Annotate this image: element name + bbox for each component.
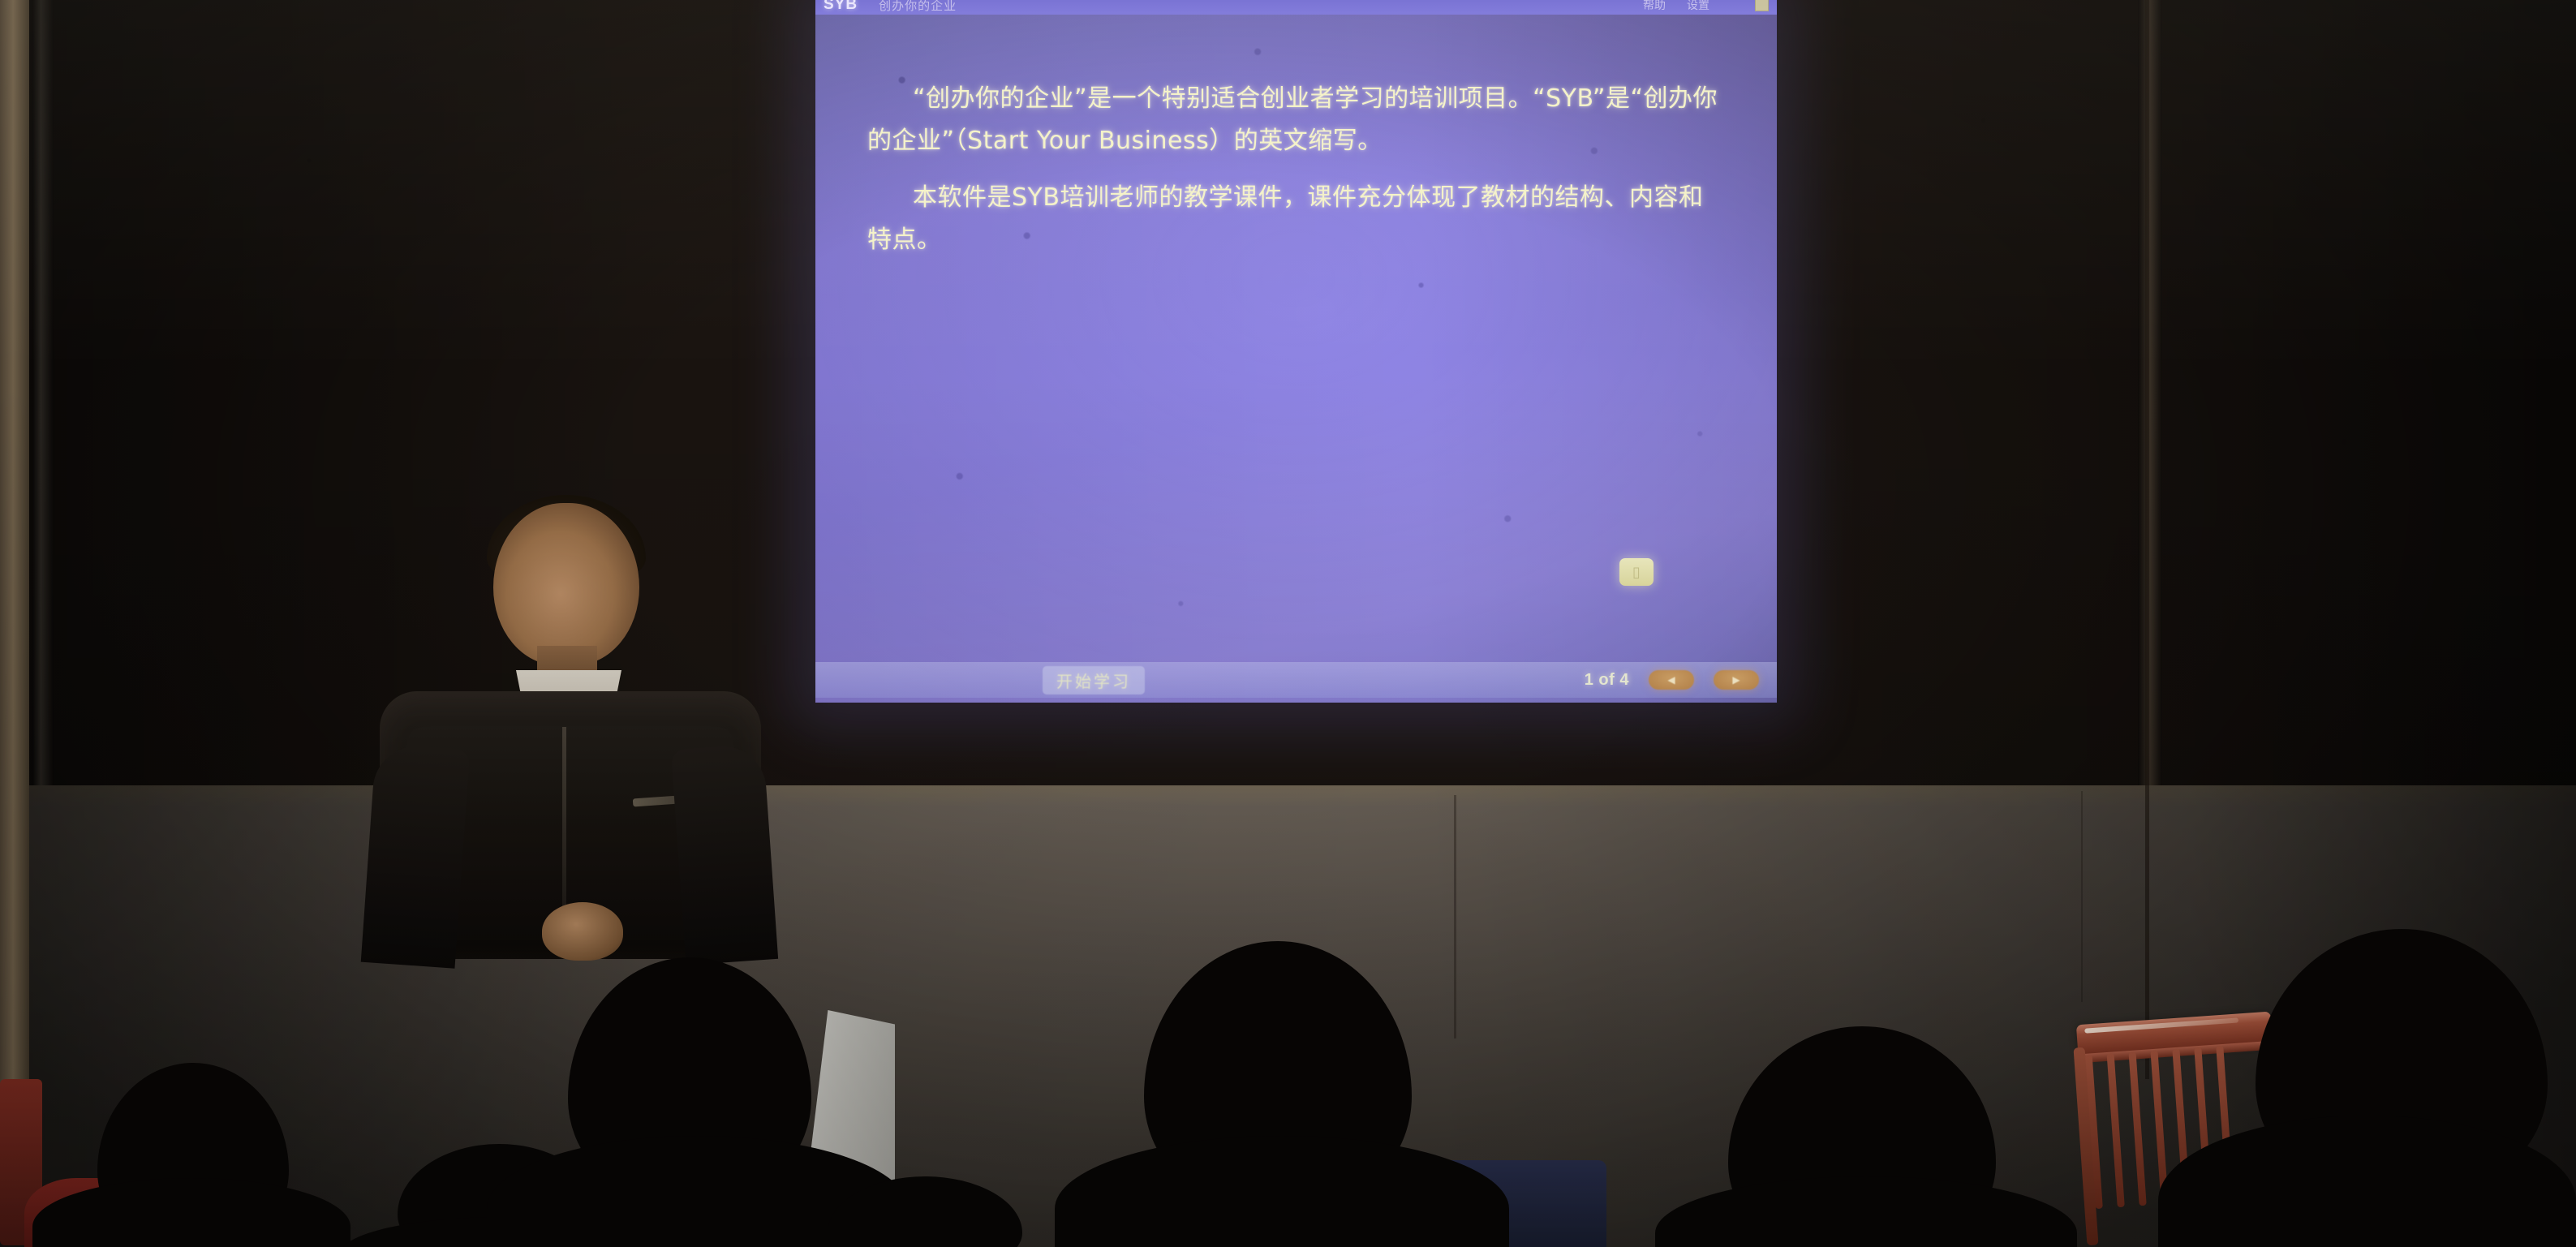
chair-slat bbox=[2107, 1053, 2125, 1207]
presenter-head bbox=[493, 503, 639, 665]
presenter-hands bbox=[542, 902, 623, 961]
classroom-photo-scene: SYB 创办你的企业 帮助 设置 “创办你的企业”是一个特别适合创业者学习的培训… bbox=[0, 0, 2576, 1247]
close-icon[interactable] bbox=[1755, 0, 1769, 11]
menu-item-settings[interactable]: 设置 bbox=[1687, 0, 1709, 13]
app-title-label: 创办你的企业 bbox=[879, 0, 957, 14]
wall-seam-right bbox=[2138, 0, 2162, 803]
wall-seam-left bbox=[32, 0, 54, 803]
slide-paragraph-1: “创办你的企业”是一个特别适合创业者学习的培训项目。“SYB”是“创办你的企业”… bbox=[867, 78, 1725, 162]
slide-titlebar: SYB 创办你的企业 帮助 设置 bbox=[815, 0, 1777, 15]
next-page-button[interactable]: ▶ bbox=[1714, 670, 1759, 690]
chair-slat bbox=[2128, 1051, 2146, 1206]
projection-screen: SYB 创办你的企业 帮助 设置 “创办你的企业”是一个特别适合创业者学习的培训… bbox=[815, 0, 1777, 703]
slide-body: “创办你的企业”是一个特别适合创业者学习的培训项目。“SYB”是“创办你的企业”… bbox=[815, 15, 1777, 631]
left-pillar bbox=[0, 0, 29, 1087]
note-glyph-mark: ▯ bbox=[1632, 564, 1641, 581]
slide-toolbar: 开始学习 1 of 4 ◀ ▶ bbox=[815, 662, 1777, 698]
wall-crack-mid-right bbox=[2081, 791, 2083, 1002]
presenter bbox=[357, 503, 811, 957]
wall-crack-center bbox=[1454, 795, 1456, 1038]
wall-crack-right bbox=[2145, 0, 2149, 1079]
note-glyph-icon[interactable]: ▯ bbox=[1619, 558, 1654, 586]
page-indicator: 1 of 4 bbox=[1585, 671, 1629, 690]
presenter-arm-right bbox=[671, 743, 778, 965]
presenter-arm-left bbox=[361, 743, 471, 968]
slide-paragraph-2: 本软件是SYB培训老师的教学课件，课件充分体现了教材的结构、内容和特点。 bbox=[867, 177, 1725, 261]
start-learning-button[interactable]: 开始学习 bbox=[1043, 666, 1145, 694]
app-brand-label: SYB bbox=[824, 0, 858, 14]
menu-item-help[interactable]: 帮助 bbox=[1643, 0, 1666, 13]
titlebar-menu[interactable]: 帮助 设置 bbox=[1643, 0, 1769, 13]
prev-page-button[interactable]: ◀ bbox=[1649, 670, 1694, 690]
